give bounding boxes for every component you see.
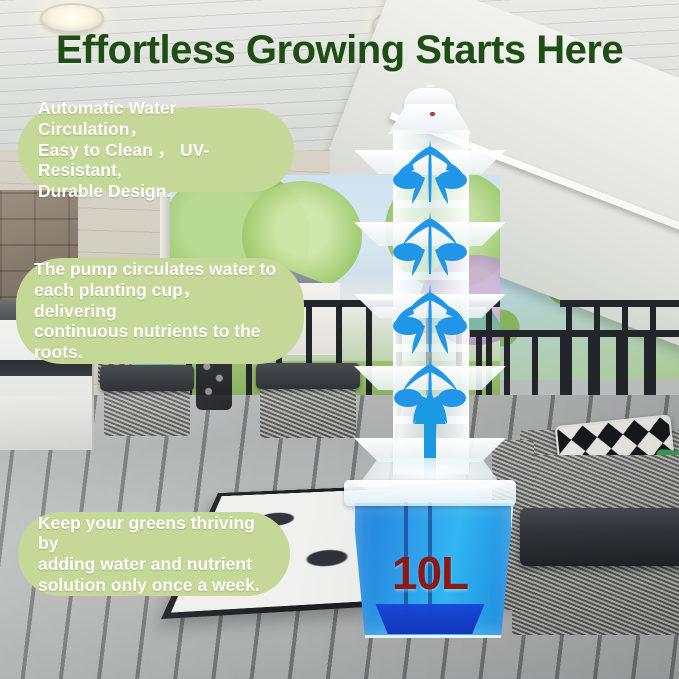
tank-rim (344, 480, 516, 506)
ottoman-cushion-left (100, 365, 194, 391)
callout-pump: The pump circulates water to each planti… (16, 258, 304, 364)
callout-features: Automatic Water Circulation， Easy to Cle… (18, 108, 294, 192)
callout-maintenance-text: Keep your greens thriving by adding wate… (38, 513, 270, 596)
tank-water-level (368, 604, 492, 634)
water-spray-graphic-top (388, 132, 472, 206)
product-image: 10L Effortless Growing Starts Here Autom… (0, 0, 679, 679)
callout-features-text: Automatic Water Circulation， Easy to Cle… (38, 98, 274, 201)
water-spray-graphic-middle (388, 278, 472, 356)
callout-pump-text: The pump circulates water to each planti… (34, 259, 286, 362)
hydroponic-tower: 10L (330, 88, 530, 648)
callout-maintenance: Keep your greens thriving by adding wate… (18, 512, 290, 596)
tower-indicator-dot (430, 112, 435, 116)
water-spray-graphic-upper (388, 204, 472, 278)
water-reservoir-tank: 10L (346, 486, 514, 641)
tank-capacity-label: 10L (346, 546, 514, 600)
page-title: Effortless Growing Starts Here (0, 28, 679, 73)
